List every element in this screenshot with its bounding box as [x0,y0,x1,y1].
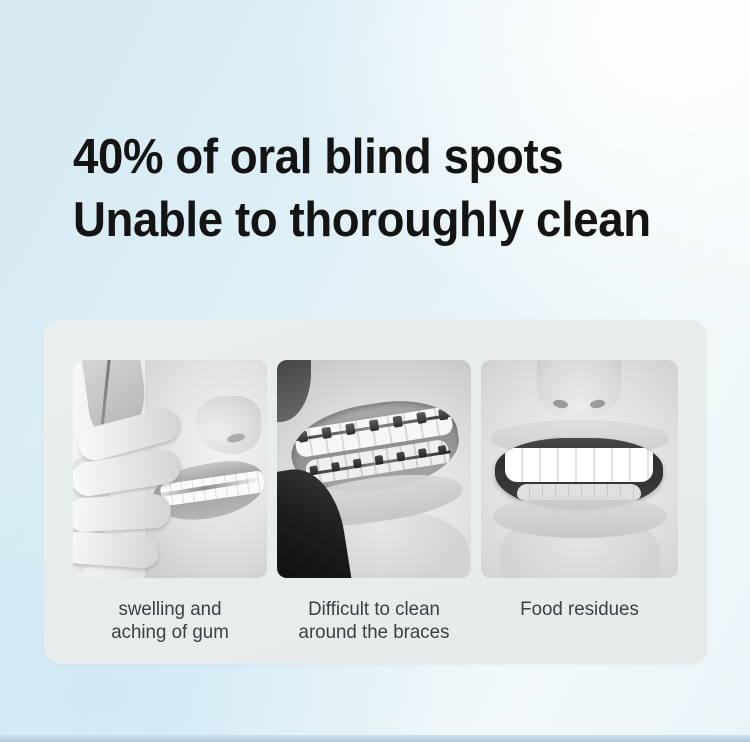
photo2-bracket [438,408,449,420]
photo2-bracket [321,427,332,439]
caption-line-1: Difficult to clean [308,598,440,620]
photo2-bracket [298,431,309,443]
clean-smile-photo [481,360,678,578]
headline-line-2: Unable to thoroughly clean [73,189,687,252]
photo2-bracket [393,415,404,427]
photo1-finger [73,531,160,570]
caption-line-2: around the braces [299,621,450,643]
photo2-bracket [438,445,447,455]
bottom-accent-strip [0,735,750,742]
photo2-bracket [345,423,356,435]
caption-line-1: swelling and [118,598,221,620]
photo2-bracket [374,455,383,465]
photo3-upper-teeth [505,448,653,482]
photo2-bracket [353,458,362,468]
photo2-bracket [396,452,405,462]
feature-card: swelling and aching of gum Difficult to … [44,320,707,664]
woman-holding-cheek-photo [73,360,267,578]
photo2-bracket [369,419,380,431]
caption-swelling-gum: swelling and aching of gum [77,598,263,644]
caption-food-residues: Food residues [485,598,674,644]
caption-line-2: aching of gum [111,621,229,643]
photo2-bracket [416,412,427,424]
photo2-bracket [418,448,427,458]
headline-line-1: 40% of oral blind spots [73,126,687,189]
page-title: 40% of oral blind spots Unable to thorou… [73,126,687,251]
caption-row: swelling and aching of gum Difficult to … [73,598,678,644]
photo1-hand [73,412,191,578]
photo3-lower-lip [493,496,667,538]
photo2-bracket [331,462,340,472]
mouth-with-braces-photo [277,360,471,578]
photo-row [73,360,678,578]
photo1-finger [73,493,172,532]
caption-line-1: Food residues [520,598,639,620]
caption-braces: Difficult to clean around the braces [281,598,467,644]
